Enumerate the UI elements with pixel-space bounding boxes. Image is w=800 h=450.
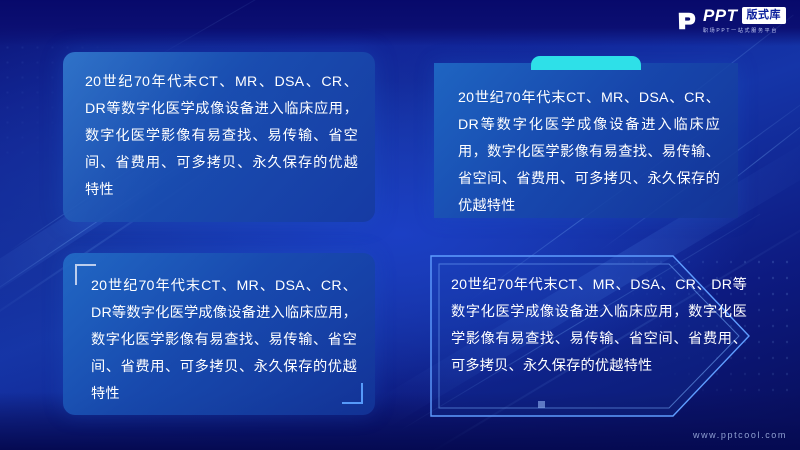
- logo-subtitle: 职场PPT一站式服务平台: [703, 27, 778, 34]
- content-card-3[interactable]: 20世纪70年代末CT、MR、DSA、CR、DR等数字化医学成像设备进入临床应用…: [63, 253, 375, 415]
- watermark-url: www.pptcool.com: [693, 430, 787, 440]
- logo-badge: 版式库: [742, 7, 787, 24]
- card-4-text: 20世纪70年代末CT、MR、DSA、CR、DR等数字化医学成像设备进入临床应用…: [451, 272, 747, 380]
- logo-title: PPT: [703, 7, 738, 24]
- content-card-1[interactable]: 20世纪70年代末CT、MR、DSA、CR、DR等数字化医学成像设备进入临床应用…: [63, 52, 375, 222]
- card-3-text-wrap: 20世纪70年代末CT、MR、DSA、CR、DR等数字化医学成像设备进入临床应用…: [91, 273, 357, 408]
- card-2-text: 20世纪70年代末CT、MR、DSA、CR、DR等数字化医学成像设备进入临床应用…: [458, 85, 720, 220]
- brand-logo[interactable]: PPT 版式库 职场PPT一站式服务平台: [676, 7, 786, 34]
- content-card-2[interactable]: 20世纪70年代末CT、MR、DSA、CR、DR等数字化医学成像设备进入临床应用…: [434, 63, 738, 218]
- logo-title-row: PPT 版式库: [703, 7, 786, 24]
- card-3-text: 20世纪70年代末CT、MR、DSA、CR、DR等数字化医学成像设备进入临床应用…: [91, 273, 357, 408]
- card-4-decor-square: [538, 401, 545, 408]
- logo-text-block: PPT 版式库 职场PPT一站式服务平台: [703, 7, 786, 34]
- card-2-accent-tab: [531, 56, 641, 70]
- card-1-text: 20世纪70年代末CT、MR、DSA、CR、DR等数字化医学成像设备进入临床应用…: [85, 69, 358, 204]
- card-1-text-wrap: 20世纪70年代末CT、MR、DSA、CR、DR等数字化医学成像设备进入临床应用…: [85, 69, 358, 204]
- card-2-text-wrap: 20世纪70年代末CT、MR、DSA、CR、DR等数字化医学成像设备进入临床应用…: [458, 85, 720, 220]
- ppt-logo-icon: [676, 10, 698, 32]
- slide-canvas: PPT 版式库 职场PPT一站式服务平台 20世纪70年代末CT、MR、DSA、…: [0, 0, 800, 450]
- card-4-text-wrap: 20世纪70年代末CT、MR、DSA、CR、DR等数字化医学成像设备进入临床应用…: [451, 272, 747, 380]
- content-card-4[interactable]: 20世纪70年代末CT、MR、DSA、CR、DR等数字化医学成像设备进入临床应用…: [425, 250, 755, 422]
